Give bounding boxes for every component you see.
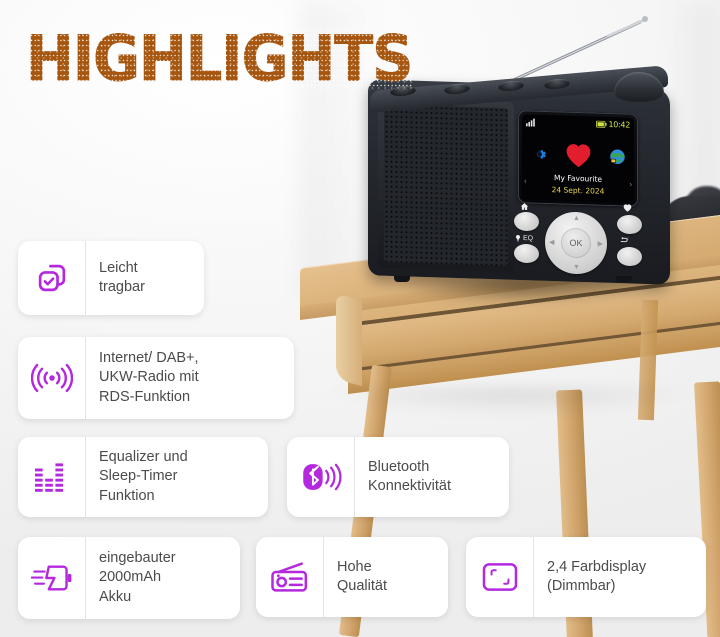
table-floor-shadow [300, 388, 720, 424]
signal-bars-icon [526, 117, 537, 126]
screen-frame-icon [481, 561, 519, 593]
favourite-button-label [623, 204, 632, 214]
bluetooth-icon [300, 460, 342, 494]
transfer-check-icon [33, 259, 71, 297]
feature-card-portability[interactable]: Leicht tragbar [18, 241, 204, 315]
heart-icon [623, 204, 632, 212]
feature-icon-cell [18, 437, 86, 517]
page-title-text: HIGHLIGHTS [26, 22, 412, 95]
feature-label: Leicht tragbar [86, 241, 157, 315]
radio-display[interactable]: 10:42 [522, 114, 634, 203]
radio-display-bezel: 10:42 [518, 110, 638, 207]
home-button[interactable] [514, 212, 539, 232]
feature-icon-cell [287, 437, 355, 517]
sleep-timer-icon: z [620, 236, 631, 244]
feature-label: Equalizer und Sleep-Timer Funktion [86, 437, 200, 517]
svg-text:z: z [627, 236, 629, 240]
dpad-right-arrow[interactable]: ▶ [598, 241, 603, 248]
radio-foot-right [616, 276, 632, 282]
display-menu-icons [522, 136, 634, 174]
feature-icon-cell [256, 537, 324, 617]
feature-card-radio-modes[interactable]: Internet/ DAB+, UKW-Radio mit RDS-Funkti… [18, 337, 294, 419]
feature-card-display[interactable]: 2,4 Farbdisplay (Dimmbar) [466, 537, 706, 617]
page-title: HIGHLIGHTS [26, 28, 412, 90]
sleep-timer-button[interactable] [617, 247, 642, 267]
feature-card-equalizer[interactable]: Equalizer und Sleep-Timer Funktion [18, 437, 268, 517]
feature-icon-cell [18, 337, 86, 419]
dpad-down-arrow[interactable]: ▼ [573, 264, 580, 271]
feature-label: Internet/ DAB+, UKW-Radio mit RDS-Funkti… [86, 337, 211, 419]
feature-label: Bluetooth Konnektivität [355, 437, 463, 517]
display-status-bar: 10:42 [526, 116, 630, 130]
dpad-left-arrow[interactable]: ◀ [549, 239, 554, 246]
display-prev-arrow[interactable]: ‹ [524, 176, 527, 185]
internet-globe-icon[interactable] [609, 147, 626, 165]
home-icon [520, 202, 529, 211]
navigation-dpad[interactable]: ▲ ▼ ◀ ▶ OK [545, 211, 607, 275]
brightness-icon [514, 234, 522, 243]
battery-icon [596, 121, 607, 128]
display-next-arrow[interactable]: › [629, 180, 632, 189]
feature-card-bluetooth[interactable]: Bluetooth Konnektivität [287, 437, 509, 517]
feature-label: 2,4 Farbdisplay (Dimmbar) [534, 537, 658, 617]
feature-card-battery[interactable]: eingebauter 2000mAh Akku [18, 537, 240, 619]
settings-gear-icon[interactable] [531, 145, 548, 163]
display-clock: 10:42 [608, 120, 630, 129]
eq-text: EQ [523, 235, 533, 242]
ok-button[interactable]: OK [561, 228, 591, 259]
favourite-heart-icon[interactable] [565, 142, 592, 168]
sleep-button-label: z [620, 236, 631, 246]
radio-foot-left [394, 276, 410, 282]
display-date: 24 Sept. 2024 [522, 184, 634, 197]
table-corner [336, 294, 362, 386]
feature-icon-cell [18, 241, 86, 315]
feature-icon-cell [18, 537, 86, 619]
dpad-up-arrow[interactable]: ▲ [573, 215, 580, 222]
feature-label: eingebauter 2000mAh Akku [86, 537, 188, 619]
equalizer-icon [32, 460, 72, 494]
fast-charge-battery-icon [31, 561, 73, 595]
display-caption: My Favourite [522, 172, 634, 185]
dab-radio-device: 10:42 [368, 84, 670, 288]
radio-waves-icon [31, 361, 73, 395]
feature-label: Hohe Qualität [324, 537, 399, 617]
speaker-grille [384, 104, 508, 266]
eq-button-label: EQ [514, 234, 533, 244]
feature-card-quality[interactable]: Hohe Qualität [256, 537, 448, 617]
eq-button[interactable] [514, 244, 539, 264]
feature-icon-cell [466, 537, 534, 617]
radio-device-icon [270, 561, 310, 593]
favourite-button[interactable] [617, 215, 642, 235]
highlights-banner: 10:42 [0, 0, 720, 637]
